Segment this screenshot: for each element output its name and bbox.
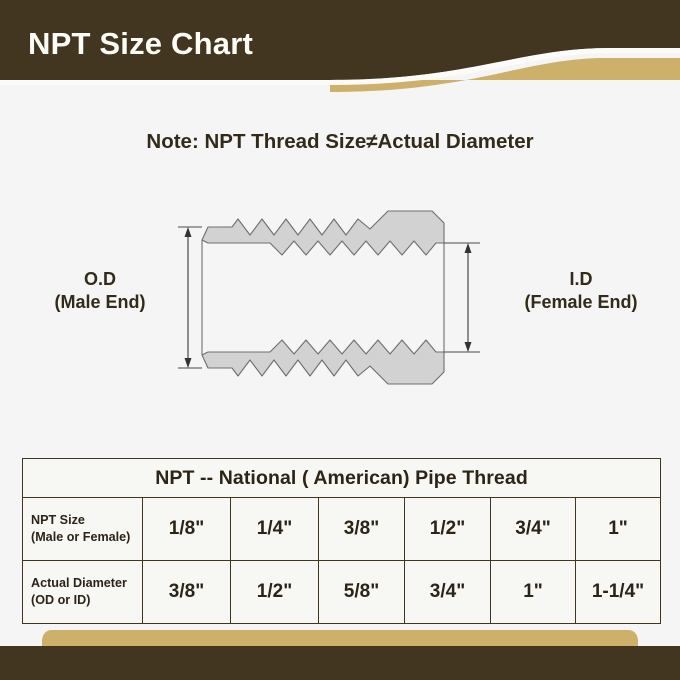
row-label-actual-diameter: Actual Diameter (OD or ID) [23,561,143,624]
cell-npt-size-2: 3/8" [319,498,405,561]
page-title: NPT Size Chart [28,26,253,62]
row-label-line1: Actual Diameter [31,575,142,592]
npt-size-table: NPT -- National ( American) Pipe Thread … [22,458,661,624]
cell-actual-diameter-0: 3/8" [143,561,231,624]
table-row: Actual Diameter (OD or ID) 3/8" 1/2" 5/8… [23,561,661,624]
cell-actual-diameter-1: 1/2" [231,561,319,624]
row-label-line2: (Male or Female) [31,529,142,546]
cell-actual-diameter-3: 3/4" [405,561,491,624]
id-arrow-head-top [465,243,472,253]
page-footer [0,646,680,680]
row-label-line1: NPT Size [31,512,142,529]
row-label-line2: (OD or ID) [31,592,142,609]
cell-npt-size-5: 1" [576,498,661,561]
cell-npt-size-0: 1/8" [143,498,231,561]
id-arrow-head-bottom [465,342,472,352]
cell-actual-diameter-5: 1-1/4" [576,561,661,624]
cell-npt-size-4: 3/4" [491,498,576,561]
npt-table-wrapper: NPT -- National ( American) Pipe Thread … [22,458,660,624]
id-label: I.D (Female End) [486,268,676,313]
table-row: NPT Size (Male or Female) 1/8" 1/4" 3/8"… [23,498,661,561]
od-label-line1: O.D [12,268,188,291]
od-arrow-head-bottom [185,358,192,368]
od-label-line2: (Male End) [12,291,188,314]
cell-npt-size-1: 1/4" [231,498,319,561]
row-label-npt-size: NPT Size (Male or Female) [23,498,143,561]
note-text: Note: NPT Thread Size≠Actual Diameter [0,130,680,154]
cell-npt-size-3: 1/2" [405,498,491,561]
cell-actual-diameter-2: 5/8" [319,561,405,624]
table-title-row: NPT -- National ( American) Pipe Thread [23,459,661,498]
id-label-line2: (Female End) [486,291,676,314]
od-label: O.D (Male End) [12,268,188,313]
npt-size-chart-page: NPT Size Chart Note: NPT Thread Size≠Act… [0,0,680,680]
fitting-bottom-wall [202,340,444,384]
id-label-line1: I.D [486,268,676,291]
page-header: NPT Size Chart [0,0,680,92]
od-arrow-head-top [185,227,192,237]
fitting-top-wall [202,211,444,255]
footer-gold-bar [42,630,638,647]
table-title: NPT -- National ( American) Pipe Thread [23,459,661,498]
cell-actual-diameter-4: 1" [491,561,576,624]
